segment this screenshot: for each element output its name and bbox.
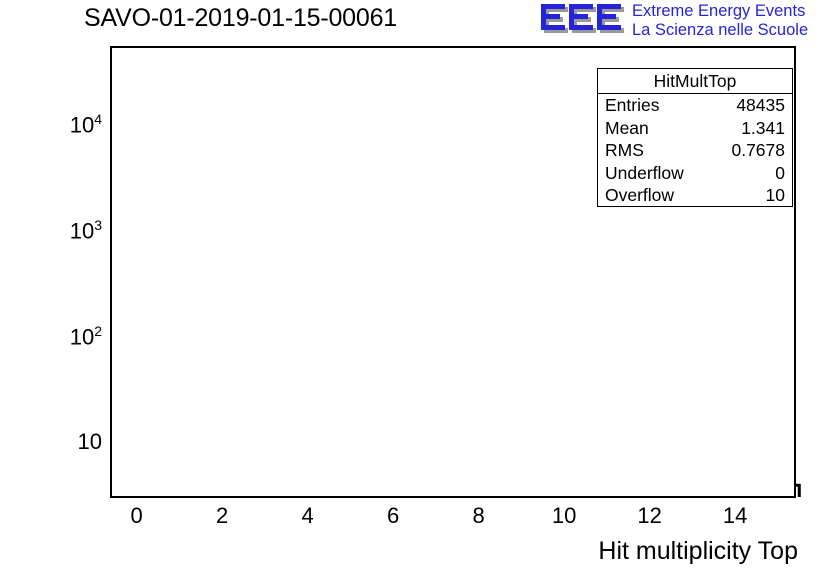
- y-tick-label: 104: [30, 111, 102, 138]
- eee-logo: Extreme Energy Events La Scienza nelle S…: [540, 2, 830, 42]
- page-title: SAVO-01-2019-01-15-00061: [84, 4, 397, 33]
- stats-row: Entries48435: [598, 94, 792, 117]
- x-tick-label: 0: [112, 503, 162, 529]
- x-axis-title: Hit multiplicity Top: [598, 537, 798, 566]
- stats-row: Overflow10: [598, 184, 792, 207]
- eee-logo-mark: [540, 3, 628, 37]
- stats-row-value: 0: [775, 162, 785, 185]
- x-tick-label: 10: [539, 503, 589, 529]
- stats-row-key: Overflow: [605, 184, 674, 207]
- y-tick-label: 103: [30, 217, 102, 244]
- stats-row: RMS0.7678: [598, 139, 792, 162]
- eee-logo-text: Extreme Energy Events La Scienza nelle S…: [632, 2, 808, 40]
- stats-row-key: RMS: [605, 139, 644, 162]
- x-tick-label: 14: [710, 503, 760, 529]
- stats-title: HitMultTop: [598, 69, 792, 94]
- x-tick-label: 4: [283, 503, 333, 529]
- stats-row-value: 0.7678: [731, 139, 785, 162]
- x-tick-label: 6: [368, 503, 418, 529]
- x-tick-label: 12: [625, 503, 675, 529]
- x-tick-label: 8: [454, 503, 504, 529]
- stats-row-value: 48435: [736, 94, 785, 117]
- stats-row-value: 1.341: [741, 117, 785, 140]
- stats-row-key: Underflow: [605, 162, 684, 185]
- y-tick-label: 102: [30, 323, 102, 350]
- stats-row-key: Mean: [605, 117, 649, 140]
- stats-row-key: Entries: [605, 94, 659, 117]
- x-tick-label: 2: [197, 503, 247, 529]
- stats-row-value: 10: [766, 184, 785, 207]
- y-tick-label: 10: [30, 429, 102, 455]
- stats-row: Mean1.341: [598, 117, 792, 140]
- stats-rows: Entries48435Mean1.341RMS0.7678Underflow0…: [598, 94, 792, 207]
- eee-tagline-line1: Extreme Energy Events: [632, 2, 805, 20]
- stats-box: HitMultTop Entries48435Mean1.341RMS0.767…: [597, 68, 793, 207]
- stats-row: Underflow0: [598, 162, 792, 185]
- plot-page: SAVO-01-2019-01-15-00061: [0, 0, 836, 572]
- eee-tagline-line2: La Scienza nelle Scuole: [632, 21, 808, 40]
